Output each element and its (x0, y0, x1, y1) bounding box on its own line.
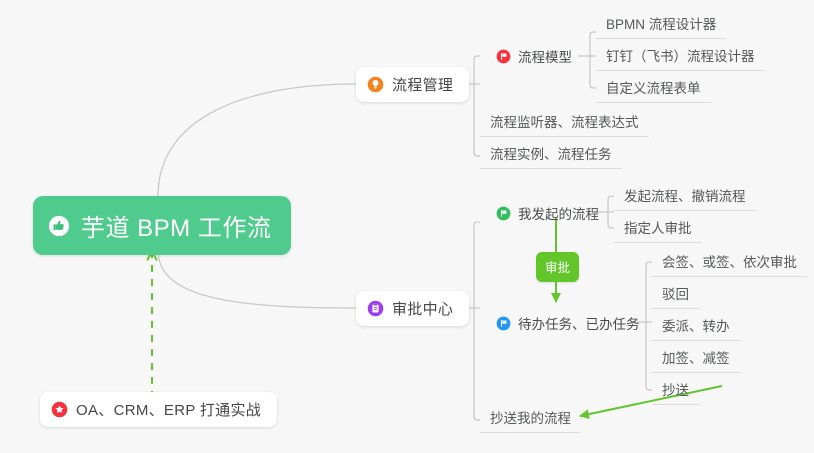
node-my-started-processes[interactable]: 我发起的流程 (490, 201, 607, 227)
leaf-bpmn-designer[interactable]: BPMN 流程设计器 (596, 10, 726, 39)
leaf-reject[interactable]: 驳回 (652, 280, 699, 309)
leaf-label: 流程实例、流程任务 (490, 143, 612, 163)
branch-approval-center[interactable]: 审批中心 (356, 291, 469, 326)
branch-label: 审批中心 (392, 298, 453, 319)
node-process-model[interactable]: 流程模型 (490, 44, 580, 70)
flag-icon (496, 49, 511, 64)
star-icon (51, 401, 68, 418)
footnote-integration-node[interactable]: OA、CRM、ERP 打通实战 (40, 392, 277, 427)
leaf-cc[interactable]: 抄送 (652, 376, 699, 405)
footnote-label: OA、CRM、ERP 打通实战 (76, 399, 261, 420)
node-label: 我发起的流程 (518, 203, 599, 223)
leaf-process-listener[interactable]: 流程监听器、流程表达式 (480, 108, 649, 137)
annotation-label: 审批 (545, 261, 570, 275)
root-label: 芋道 BPM 工作流 (81, 208, 271, 243)
leaf-label: 发起流程、撤销流程 (624, 185, 746, 205)
lightbulb-icon (367, 76, 384, 93)
leaf-label: 驳回 (662, 283, 689, 303)
leaf-cc-to-me-processes[interactable]: 抄送我的流程 (480, 404, 581, 433)
node-label: 待办任务、已办任务 (518, 313, 640, 333)
thumbs-up-icon (48, 215, 70, 237)
branch-process-management[interactable]: 流程管理 (356, 67, 469, 102)
leaf-add-remove-sign[interactable]: 加签、减签 (652, 344, 740, 373)
leaf-custom-form[interactable]: 自定义流程表单 (596, 74, 711, 103)
leaf-label: 指定人审批 (624, 217, 692, 237)
leaf-dingtalk-designer[interactable]: 钉钉（飞书）流程设计器 (596, 42, 765, 71)
node-todo-done-tasks[interactable]: 待办任务、已办任务 (490, 311, 648, 337)
leaf-delegate-transfer[interactable]: 委派、转办 (652, 312, 740, 341)
leaf-label: 加签、减签 (662, 347, 730, 367)
leaf-countersign[interactable]: 会签、或签、依次审批 (652, 248, 807, 277)
annotation-approval-tag: 审批 (536, 252, 579, 282)
flag-icon (496, 316, 511, 331)
node-label: 流程模型 (518, 46, 572, 66)
leaf-label: 抄送我的流程 (490, 407, 571, 427)
leaf-assignee-approval[interactable]: 指定人审批 (614, 214, 702, 243)
leaf-label: 委派、转办 (662, 315, 730, 335)
leaf-start-cancel-process[interactable]: 发起流程、撤销流程 (614, 182, 756, 211)
mindmap-canvas: 芋道 BPM 工作流 流程管理 流程模型 BPMN 流程设计器 钉钉（飞书）流程… (0, 0, 814, 453)
cc-flow-arrow (580, 386, 722, 416)
leaf-label: 自定义流程表单 (606, 77, 701, 97)
leaf-label: BPMN 流程设计器 (606, 13, 716, 33)
leaf-label: 流程监听器、流程表达式 (490, 111, 639, 131)
branch-label: 流程管理 (392, 74, 453, 95)
leaf-label: 钉钉（飞书）流程设计器 (606, 45, 755, 65)
flag-icon (496, 206, 511, 221)
clipboard-icon (367, 300, 384, 317)
leaf-process-instance[interactable]: 流程实例、流程任务 (480, 140, 622, 169)
leaf-label: 会签、或签、依次审批 (662, 251, 797, 271)
root-node[interactable]: 芋道 BPM 工作流 (33, 196, 291, 255)
leaf-label: 抄送 (662, 379, 689, 399)
